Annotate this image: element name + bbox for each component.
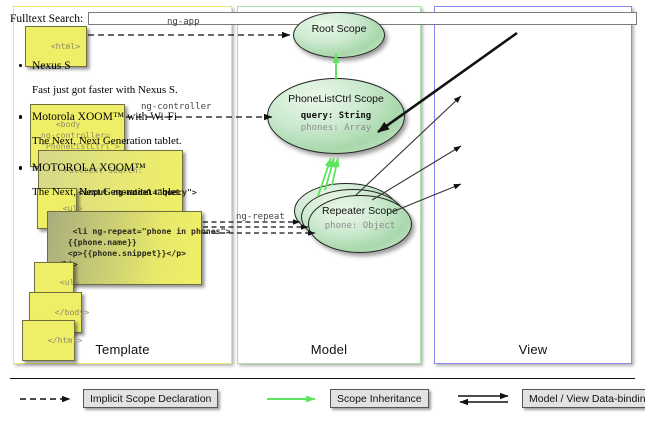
diagram-canvas: Template Model View <html> <body ng-cont… [0, 0, 645, 425]
phone-name: Nexus S [32, 59, 637, 74]
scope-root: Root Scope [293, 12, 385, 58]
phone-name: MOTOROLA XOOM™ [32, 161, 637, 176]
legend-item-scope-inheritance: Scope Inheritance [265, 389, 429, 408]
legend-label: Implicit Scope Declaration [83, 389, 218, 408]
bullet-icon [19, 115, 22, 118]
legend-item-implicit-scope-declaration: Implicit Scope Declaration [18, 389, 218, 408]
panel-model-label: Model [238, 342, 420, 357]
scope-prop-phone: phone: Object [325, 221, 395, 231]
legend-double-arrow-icon [455, 390, 517, 408]
edge-label-ng-controller: ng-controller [141, 102, 211, 112]
panel-view-label: View [435, 342, 631, 357]
legend-divider [10, 378, 635, 379]
bullet-icon [19, 166, 22, 169]
scope-root-title: Root Scope [294, 13, 384, 35]
code-text: </body> [55, 307, 90, 317]
bullet-icon [19, 64, 22, 67]
code-box-html-close: </html> [22, 320, 75, 361]
legend-green-arrow-icon [265, 390, 325, 408]
scope-prop-phones: phones: Array [301, 123, 371, 133]
view-search-label: Fulltext Search: [10, 13, 83, 25]
legend-dashed-arrow-icon [18, 390, 78, 408]
scope-repeater: Repeater Scope phone: Object [308, 195, 412, 253]
legend-label: Model / View Data-binding [522, 389, 645, 408]
edge-label-ng-app: ng-app [167, 17, 200, 27]
code-text: <ul> [60, 277, 80, 287]
scope-prop-query: query: String [301, 111, 371, 121]
scope-phonelistctrl-title: PhoneListCtrl Scope [268, 79, 404, 105]
code-text: </html> [48, 335, 83, 345]
scope-repeater-title: Repeater Scope [309, 196, 411, 217]
legend-label: Scope Inheritance [330, 389, 429, 408]
scope-phonelistctrl: PhoneListCtrl Scope query: String phones… [267, 78, 405, 154]
edge-label-ng-repeat: ng-repeat [236, 212, 285, 222]
legend-item-model-view-data-binding: Model / View Data-binding [455, 389, 645, 408]
